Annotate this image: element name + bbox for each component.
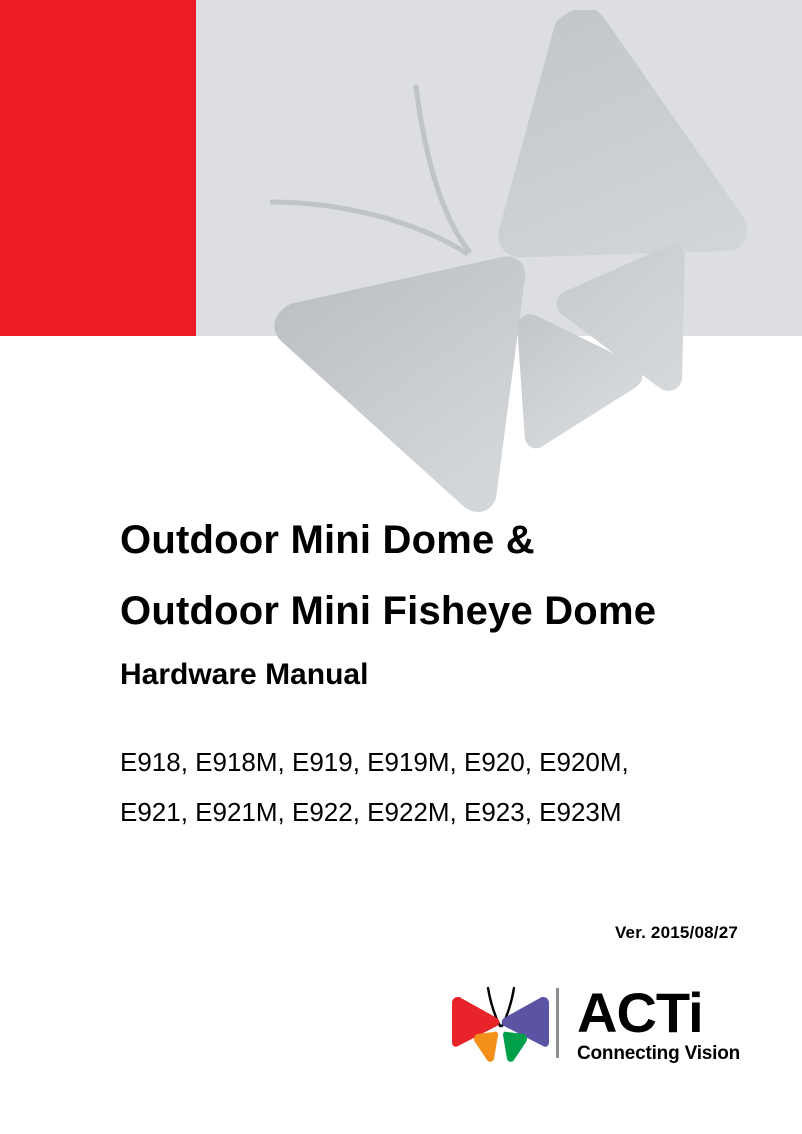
model-number-list: E918, E918M, E919, E919M, E920, E920M, E…	[120, 738, 770, 838]
acti-wordmark: ACTi	[577, 986, 740, 1041]
header-band	[0, 0, 802, 336]
acti-tagline: Connecting Vision	[577, 1043, 740, 1065]
model-number-line-2: E921, E921M, E922, E922M, E923, E923M	[120, 788, 770, 838]
doc-title-line-1: Outdoor Mini Dome &	[120, 505, 760, 576]
logo-text-group: ACTi Connecting Vision	[577, 986, 740, 1065]
doc-title-line-2: Outdoor Mini Fisheye Dome	[120, 576, 760, 647]
document-cover-page: Outdoor Mini Dome & Outdoor Mini Fisheye…	[0, 0, 802, 1134]
logo-divider	[556, 988, 559, 1058]
acti-logo-lockup: ACTi Connecting Vision	[452, 986, 742, 1066]
title-block: Outdoor Mini Dome & Outdoor Mini Fisheye…	[120, 505, 760, 696]
version-label: Ver. 2015/08/27	[615, 923, 738, 943]
model-number-line-1: E918, E918M, E919, E919M, E920, E920M,	[120, 738, 770, 788]
red-accent-block	[0, 0, 196, 336]
doc-subtitle: Hardware Manual	[120, 653, 760, 697]
acti-butterfly-icon	[452, 986, 550, 1064]
